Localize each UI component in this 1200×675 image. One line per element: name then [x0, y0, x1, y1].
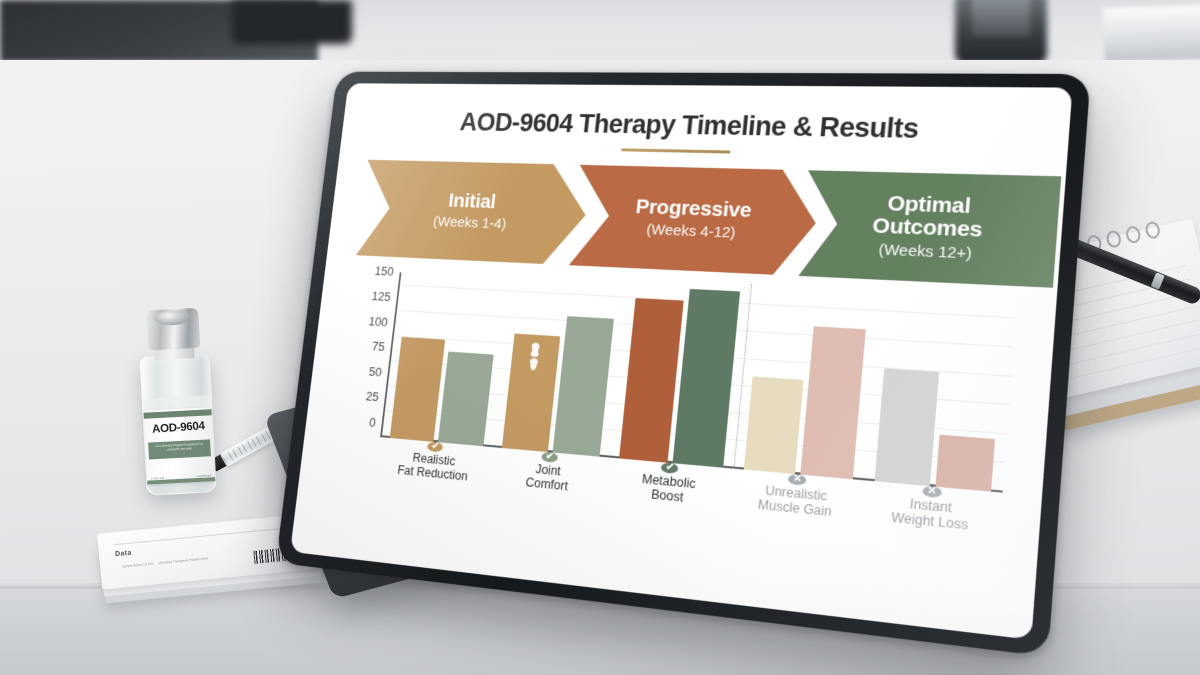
x-axis-category-label: Metabolic Boost	[640, 473, 696, 506]
desk-scene: AOD-9604 Anti-Obesity Peptide Fragment F…	[0, 0, 1200, 675]
pen-holder-contents	[972, 0, 1030, 36]
bar-slot	[673, 287, 740, 468]
background-white-block	[1103, 4, 1200, 62]
document-brand-text: Data	[115, 550, 132, 559]
y-axis-tick-label: 150	[374, 264, 394, 279]
check-circle-icon: ✔	[541, 452, 558, 463]
timeline-phase-weeks: (Weeks 1-4)	[432, 213, 507, 232]
x-axis-category-label: Unrealistic Muscle Gain	[757, 484, 833, 520]
bar	[438, 352, 493, 446]
x-circle-icon: ✕	[922, 486, 942, 499]
y-axis-tick-label: 25	[365, 389, 379, 404]
y-axis-tick-label: 0	[369, 415, 377, 430]
timeline-phase-1: Initial(Weeks 1-4)	[356, 160, 591, 266]
page-title: AOD-9604 Therapy Timeline & Results	[367, 107, 1036, 147]
timeline-phase-label: Progressive	[635, 197, 753, 222]
x-axis-category-label: Instant Weight Loss	[891, 496, 970, 533]
bar-group	[609, 284, 750, 469]
vial-label: AOD-9604 Anti-Obesity Peptide Fragment F…	[143, 407, 215, 484]
x-axis-category-label: Realistic Fat Reduction	[397, 451, 470, 484]
bar-slot	[800, 293, 869, 479]
document-field-values: AOD-9604 Therapeutic Peptide Panel	[158, 556, 209, 565]
results-bar-chart: 0255075100125150 ✔Realistic Fat Reductio…	[327, 270, 1022, 533]
background-monitor-base	[232, 0, 352, 44]
timeline-phase-2: Progressive(Weeks 4-12)	[569, 165, 821, 277]
y-axis-tick-label: 75	[371, 339, 385, 354]
bar	[935, 435, 995, 492]
presentation-slide: AOD-9604 Therapy Timeline & Results Init…	[290, 83, 1072, 640]
therapy-timeline: Initial(Weeks 1-4)Progressive(Weeks 4-12…	[356, 160, 1027, 286]
bar-slot	[935, 300, 1006, 492]
tablet-assembly: AOD-9604 Therapy Timeline & Results Init…	[268, 62, 1038, 607]
tablet-device: AOD-9604 Therapy Timeline & Results Init…	[276, 72, 1091, 657]
tablet-screen[interactable]: AOD-9604 Therapy Timeline & Results Init…	[290, 83, 1072, 640]
check-circle-icon: ✔	[661, 462, 679, 474]
bar-slot	[875, 297, 945, 486]
timeline-phase-weeks: (Weeks 4-12)	[646, 221, 736, 241]
bar	[744, 376, 804, 474]
document-field-labels: Sample Report Lot Ref.	[122, 562, 154, 569]
bar	[875, 368, 939, 486]
tablet-bezel: AOD-9604 Therapy Timeline & Results Init…	[276, 72, 1091, 657]
title-underline-accent	[621, 148, 731, 153]
bar-slot	[744, 290, 812, 474]
timeline-phase-weeks: (Weeks 12+)	[878, 241, 973, 263]
knee-joint-icon	[525, 341, 544, 371]
bar	[673, 289, 740, 468]
bar-group	[864, 296, 1017, 492]
bar	[552, 316, 614, 457]
timeline-phase-label: Optimal Outcomes	[872, 193, 985, 242]
bar	[619, 298, 684, 462]
timeline-phase-3: Optimal Outcomes(Weeks 12+)	[798, 170, 1061, 287]
x-circle-icon: ✕	[788, 474, 807, 486]
medication-vial: AOD-9604 Anti-Obesity Peptide Fragment F…	[126, 307, 228, 497]
bar	[501, 333, 560, 452]
check-circle-icon: ✔	[427, 441, 443, 452]
bar	[390, 337, 446, 442]
bar-group	[492, 278, 627, 458]
bar-group	[733, 290, 880, 480]
timeline-phase-label: Initial	[447, 191, 497, 213]
y-axis-tick-label: 125	[371, 288, 391, 303]
x-axis-category-label: Joint Comfort	[525, 462, 570, 494]
y-axis-tick-label: 50	[368, 364, 382, 379]
bar-group	[381, 272, 511, 447]
vial-product-name: AOD-9604	[144, 420, 213, 437]
y-axis-tick-label: 100	[368, 313, 389, 328]
vial-label-top-band	[144, 409, 212, 419]
bar	[800, 327, 866, 480]
